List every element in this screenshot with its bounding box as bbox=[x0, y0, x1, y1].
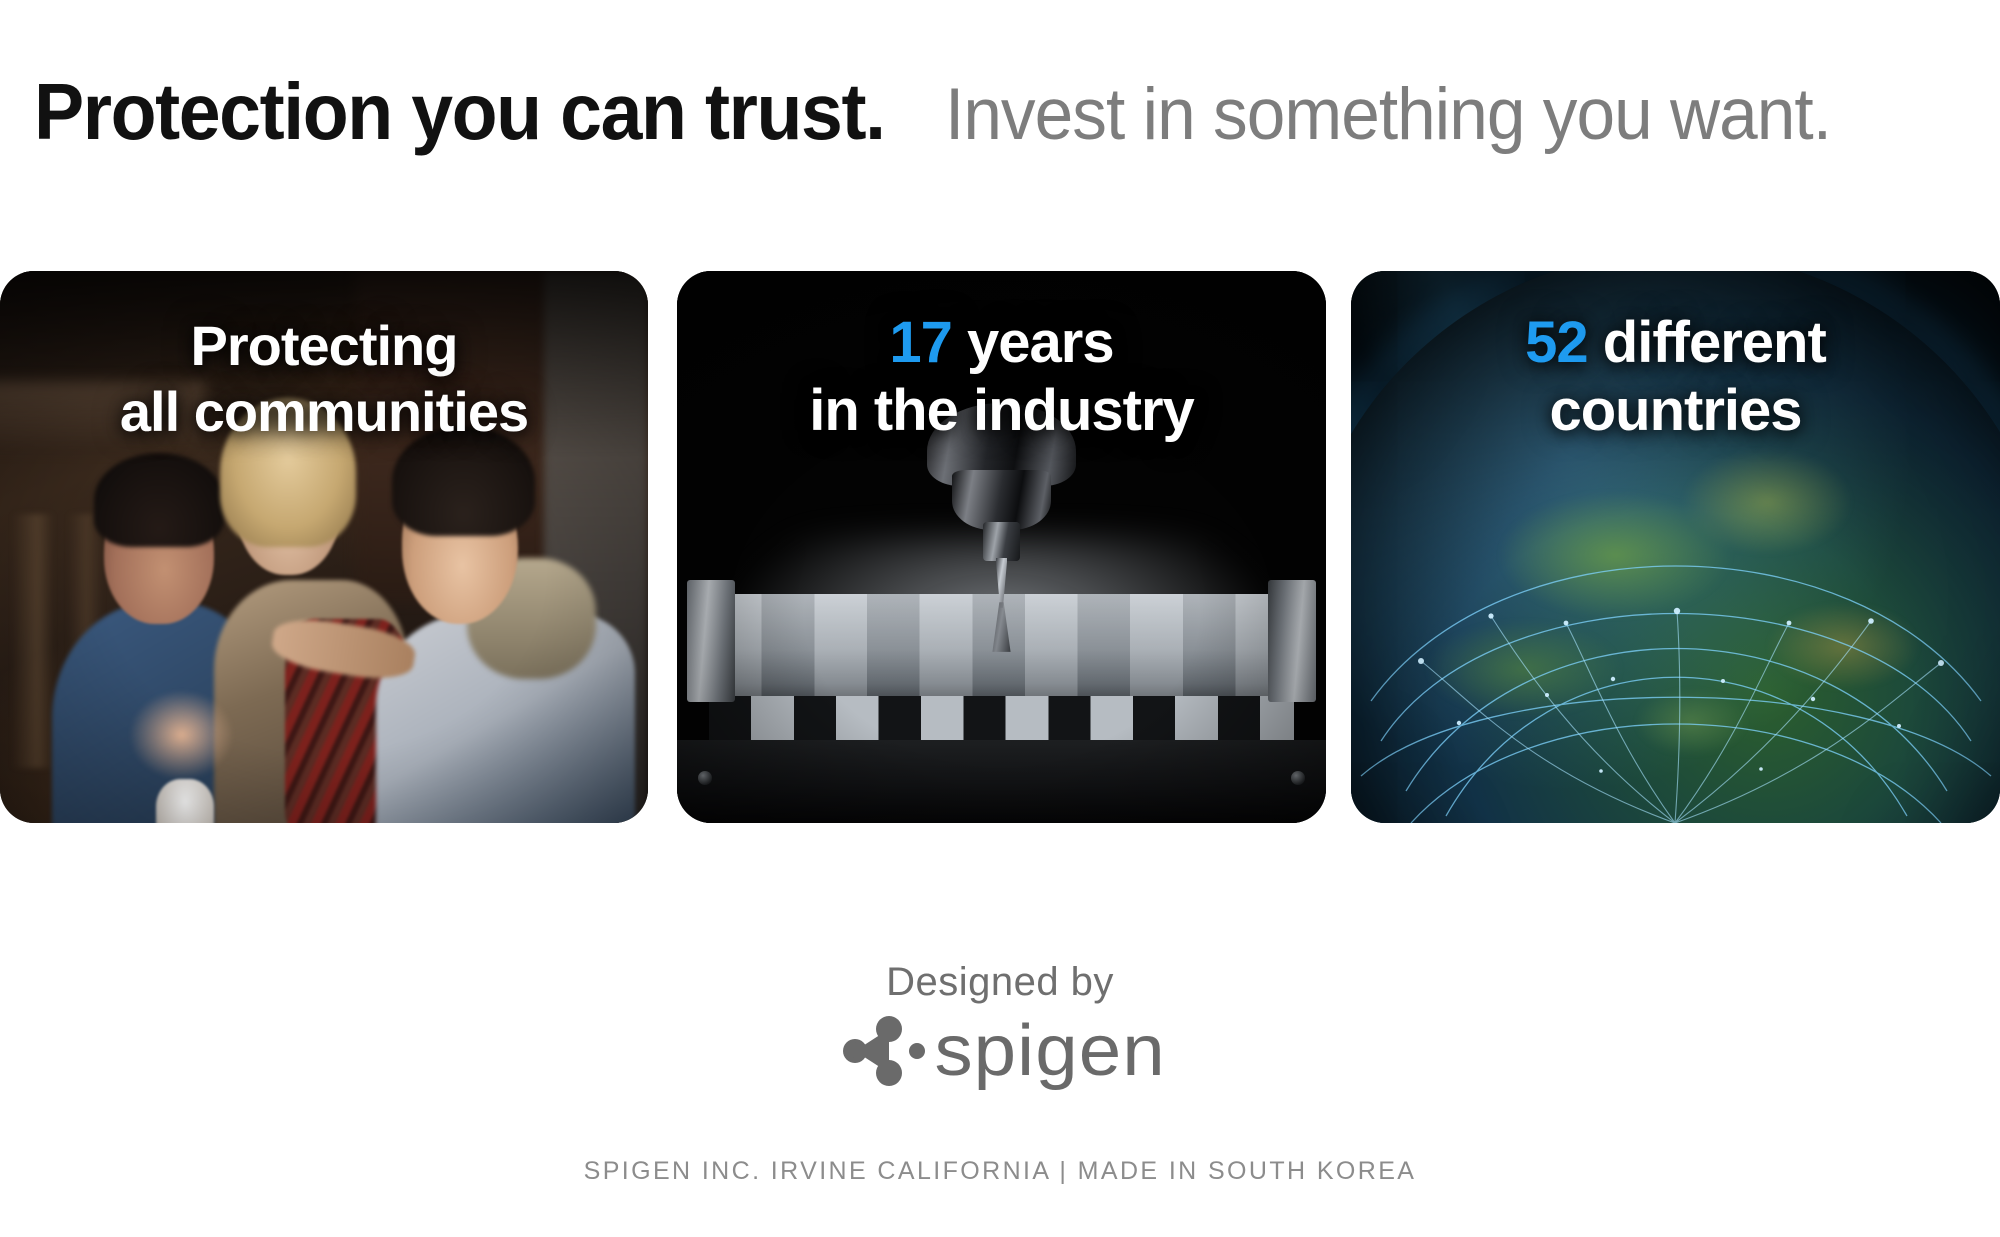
spigen-molecule-icon bbox=[841, 1014, 925, 1088]
feature-card-row: Protecting all communities 17 years in t… bbox=[0, 271, 2000, 823]
spigen-logo: spigen bbox=[0, 1014, 2000, 1088]
card-accent-number: 17 bbox=[889, 310, 952, 375]
card-caption: 17 years in the industry bbox=[677, 309, 1326, 445]
brand-block: Designed by spigen bbox=[0, 962, 2000, 1088]
headline-strong: Protection you can trust. bbox=[34, 72, 885, 152]
card-caption-line-1: 17 years bbox=[677, 309, 1326, 377]
designed-by-label: Designed by bbox=[0, 962, 2000, 1002]
card-caption-line-1-rest: years bbox=[952, 310, 1114, 375]
feature-card-17-years-in-the-industry[interactable]: 17 years in the industry bbox=[677, 271, 1326, 823]
page-title: Protection you can trust.Invest in somet… bbox=[34, 72, 1878, 152]
spigen-wordmark: spigen bbox=[934, 1015, 1165, 1087]
headline-light: Invest in something you want. bbox=[945, 78, 1831, 151]
card-caption-line-1-rest: different bbox=[1588, 310, 1826, 375]
legal-footer: SPIGEN INC. IRVINE CALIFORNIA | MADE IN … bbox=[0, 1157, 2000, 1186]
card-caption-line-1: 52 different bbox=[1351, 309, 2000, 377]
card-caption-line-2: countries bbox=[1351, 377, 2000, 445]
card-caption: Protecting all communities bbox=[0, 313, 648, 444]
feature-card-52-different-countries[interactable]: 52 different countries bbox=[1351, 271, 2000, 823]
card-caption: 52 different countries bbox=[1351, 309, 2000, 445]
card-caption-line-2: all communities bbox=[0, 379, 648, 445]
card-caption-line-1: Protecting bbox=[0, 313, 648, 379]
feature-card-protecting-all-communities[interactable]: Protecting all communities bbox=[0, 271, 648, 823]
card-caption-line-2: in the industry bbox=[677, 377, 1326, 445]
card-accent-number: 52 bbox=[1525, 310, 1588, 375]
